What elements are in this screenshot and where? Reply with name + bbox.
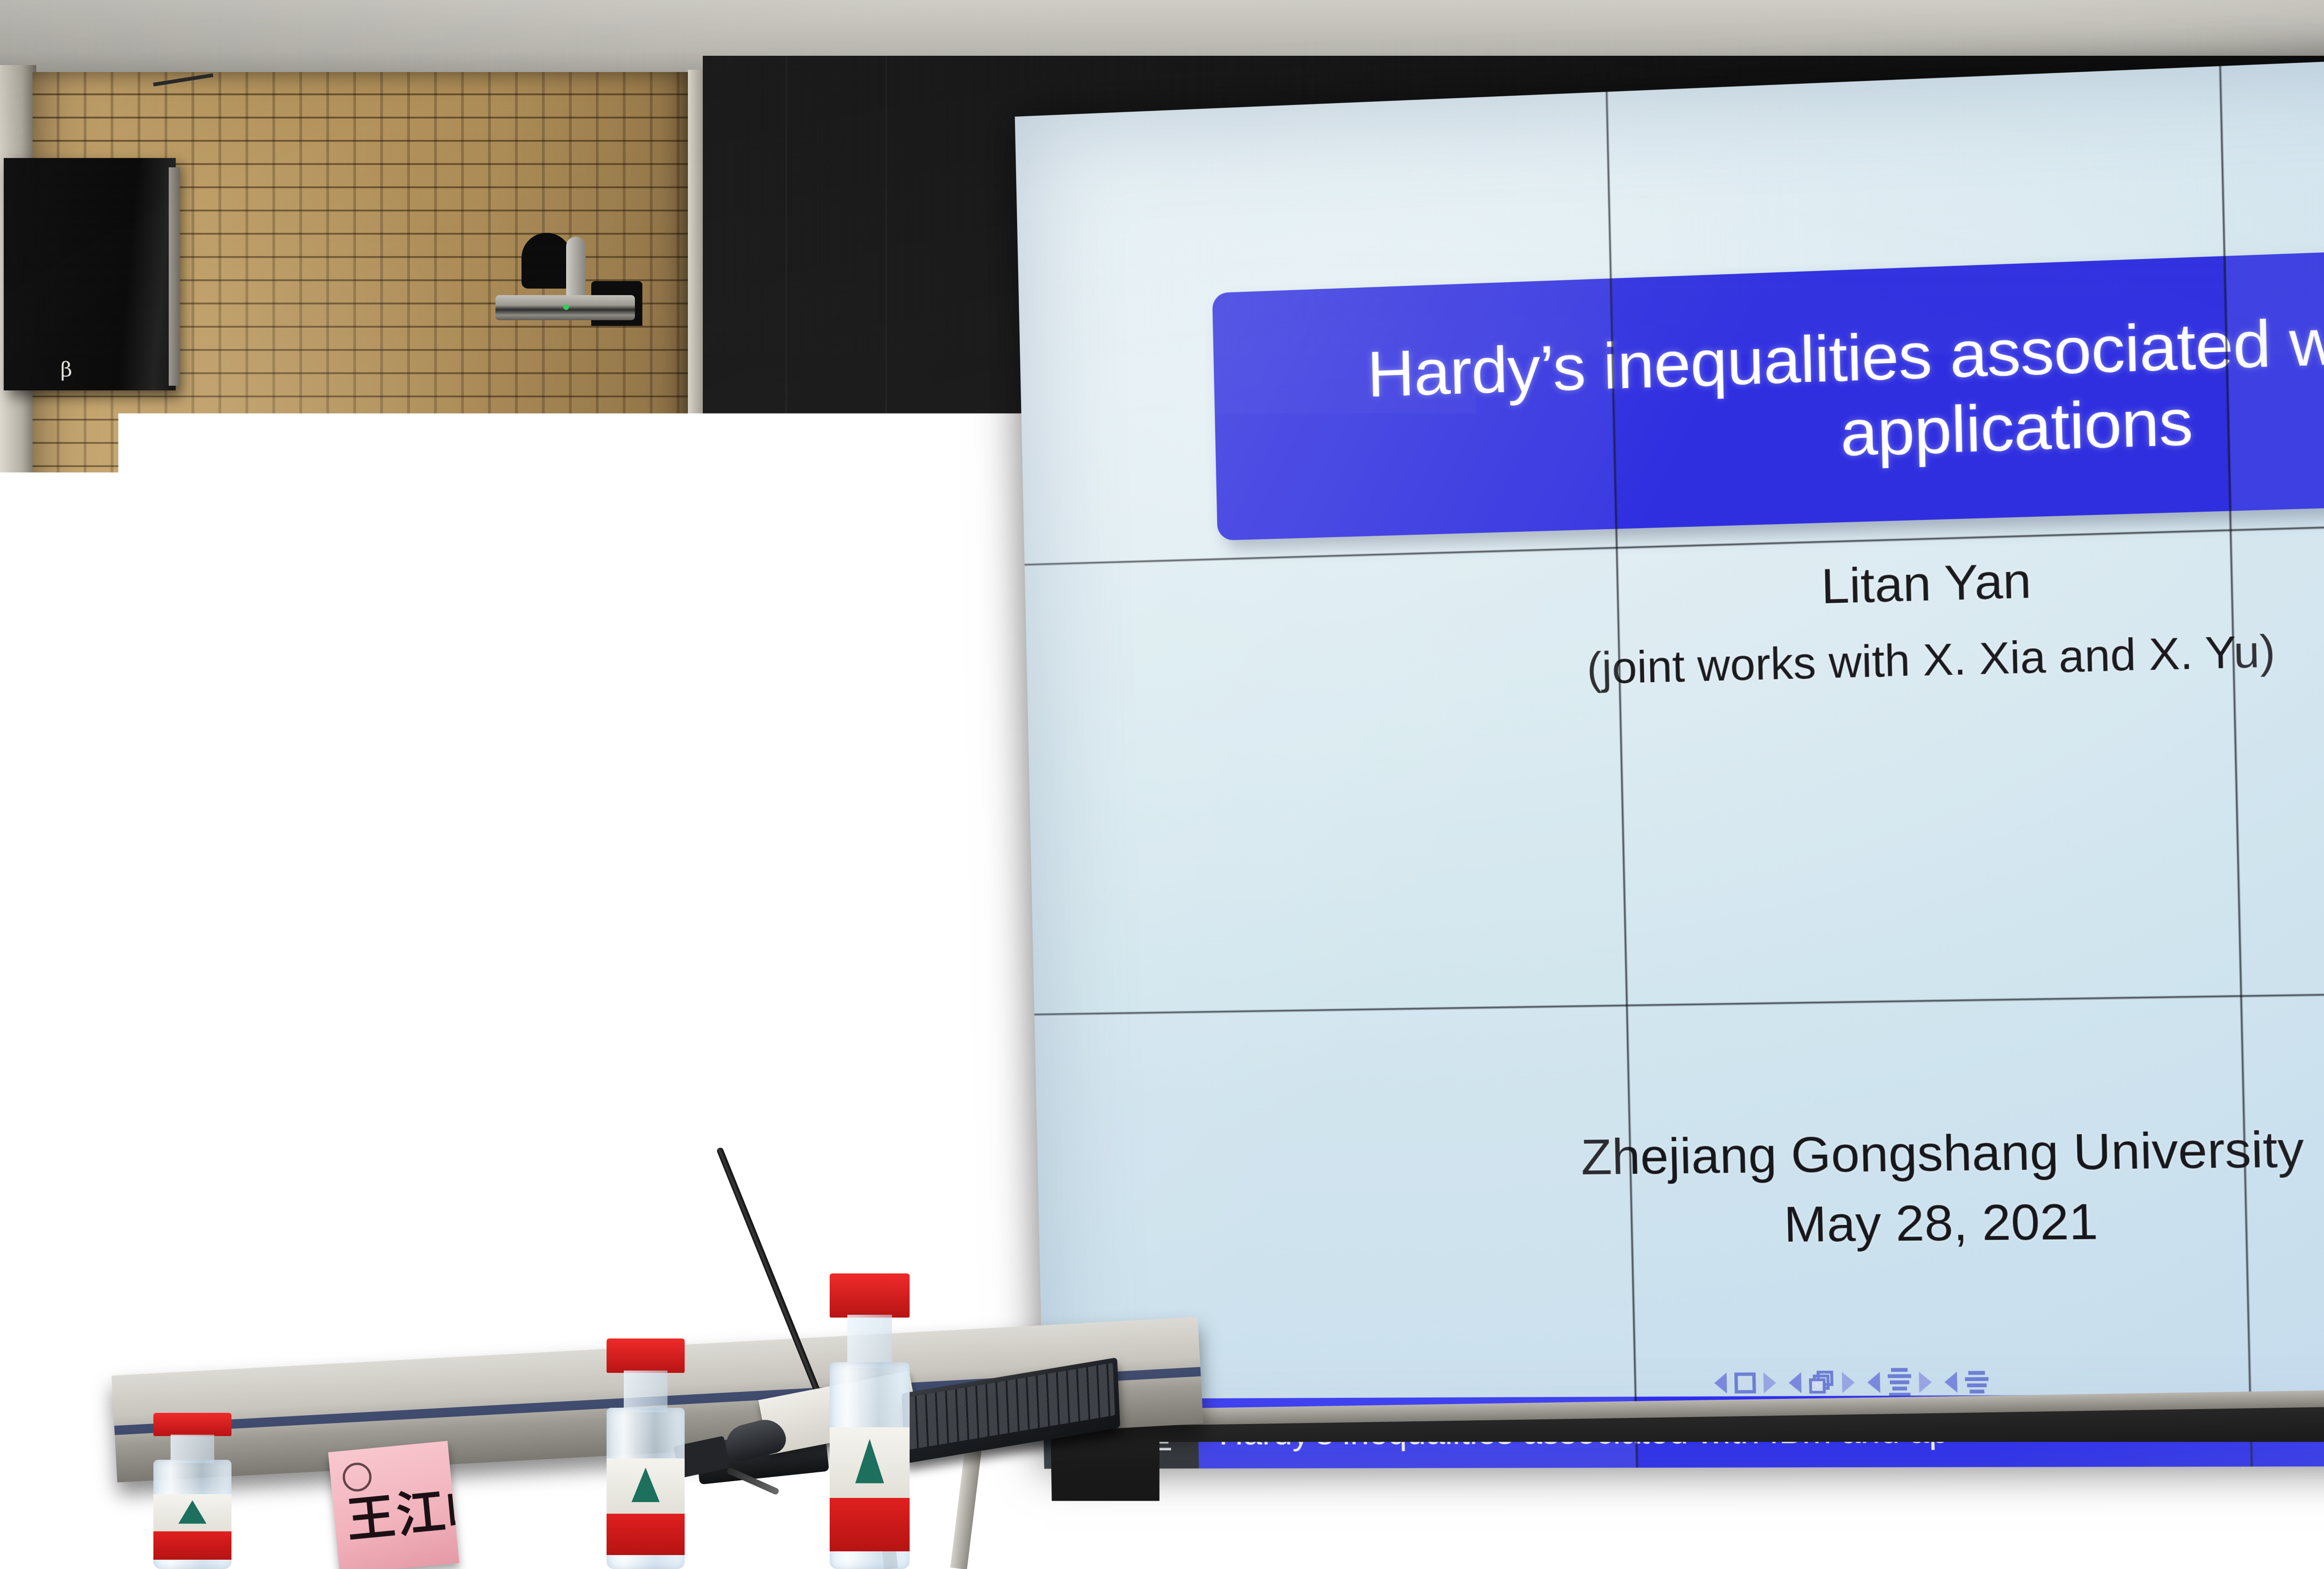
frames-stack-icon[interactable] xyxy=(1809,1371,1835,1394)
presenter-shirt-placket xyxy=(558,930,572,1273)
prev-frame-arrow-icon[interactable] xyxy=(1789,1372,1802,1393)
conference-room-photo: β Hardy’s inequalities associated with f… xyxy=(0,0,2324,1569)
bottle-cap xyxy=(607,1338,685,1373)
ptz-camera-head xyxy=(522,233,572,289)
prev-subsection-arrow-icon[interactable] xyxy=(1944,1371,1957,1392)
bottle-label-red xyxy=(153,1531,231,1559)
ptz-camera xyxy=(483,230,660,332)
next-slide-arrow-icon[interactable] xyxy=(1763,1372,1776,1393)
presenter-shirt-button xyxy=(561,1004,570,1013)
presenter-ear-right xyxy=(633,697,656,740)
bottle-cap xyxy=(830,1273,910,1318)
next-section-arrow-icon[interactable] xyxy=(1919,1371,1932,1392)
presenter-nose xyxy=(543,730,570,774)
water-bottle xyxy=(153,1413,231,1569)
presenter-shirt-button xyxy=(561,1106,570,1115)
presenter-teeth xyxy=(521,785,590,796)
presenter-shirt-button xyxy=(561,1208,570,1218)
bottle-neck xyxy=(624,1371,667,1412)
ptz-camera-arm xyxy=(566,237,586,301)
slide-title-banner: Hardy’s inequalities associated with fBm… xyxy=(1212,233,2324,541)
subsection-nav-group[interactable] xyxy=(1944,1371,1989,1393)
presentation-slide: Hardy’s inequalities associated with fBm… xyxy=(1015,39,2324,1469)
name-card-logo-icon xyxy=(342,1461,373,1493)
presenter-mouth xyxy=(516,784,600,808)
slide-nav-group[interactable] xyxy=(1714,1372,1776,1394)
ptz-camera-status-led xyxy=(563,304,569,310)
bottle-neck xyxy=(847,1315,892,1368)
slide-institute: Zhejiang Gongshang University May 28, 20… xyxy=(1037,1108,2324,1266)
bottle-cap xyxy=(153,1413,231,1436)
slide-institute-line1: Zhejiang Gongshang University xyxy=(1037,1108,2324,1198)
next-frame-arrow-icon[interactable] xyxy=(1842,1372,1855,1393)
bottle-label-red xyxy=(830,1498,910,1551)
presenter-ear-left xyxy=(455,697,479,742)
slide-title-text: Hardy’s inequalities associated with fBm… xyxy=(1213,286,2324,490)
beamer-navigation-bar[interactable] xyxy=(1714,1368,1989,1398)
section-lines-icon[interactable] xyxy=(1888,1368,1912,1397)
presenter-eye-right xyxy=(575,709,614,722)
bottle-label-red xyxy=(607,1514,685,1555)
slide-square-icon[interactable] xyxy=(1734,1372,1756,1393)
section-nav-group[interactable] xyxy=(1867,1368,1932,1397)
prev-slide-arrow-icon[interactable] xyxy=(1714,1372,1727,1393)
water-bottle xyxy=(607,1338,685,1569)
prev-section-arrow-icon[interactable] xyxy=(1867,1372,1880,1393)
wall-speaker xyxy=(4,158,176,390)
water-bottle xyxy=(830,1273,910,1569)
name-card-text: 王江峰 xyxy=(344,1487,451,1545)
speaker-brand-logo: β xyxy=(60,358,72,382)
frame-nav-group[interactable] xyxy=(1789,1371,1855,1395)
name-card: 王江峰 xyxy=(328,1441,459,1569)
wall-speaker-side xyxy=(169,167,180,386)
presenter-eye-left xyxy=(498,711,536,724)
subsection-lines-icon[interactable] xyxy=(1965,1371,1989,1393)
video-wall-display[interactable]: Hardy’s inequalities associated with fBm… xyxy=(1015,39,2324,1469)
bottle-neck xyxy=(171,1435,214,1463)
